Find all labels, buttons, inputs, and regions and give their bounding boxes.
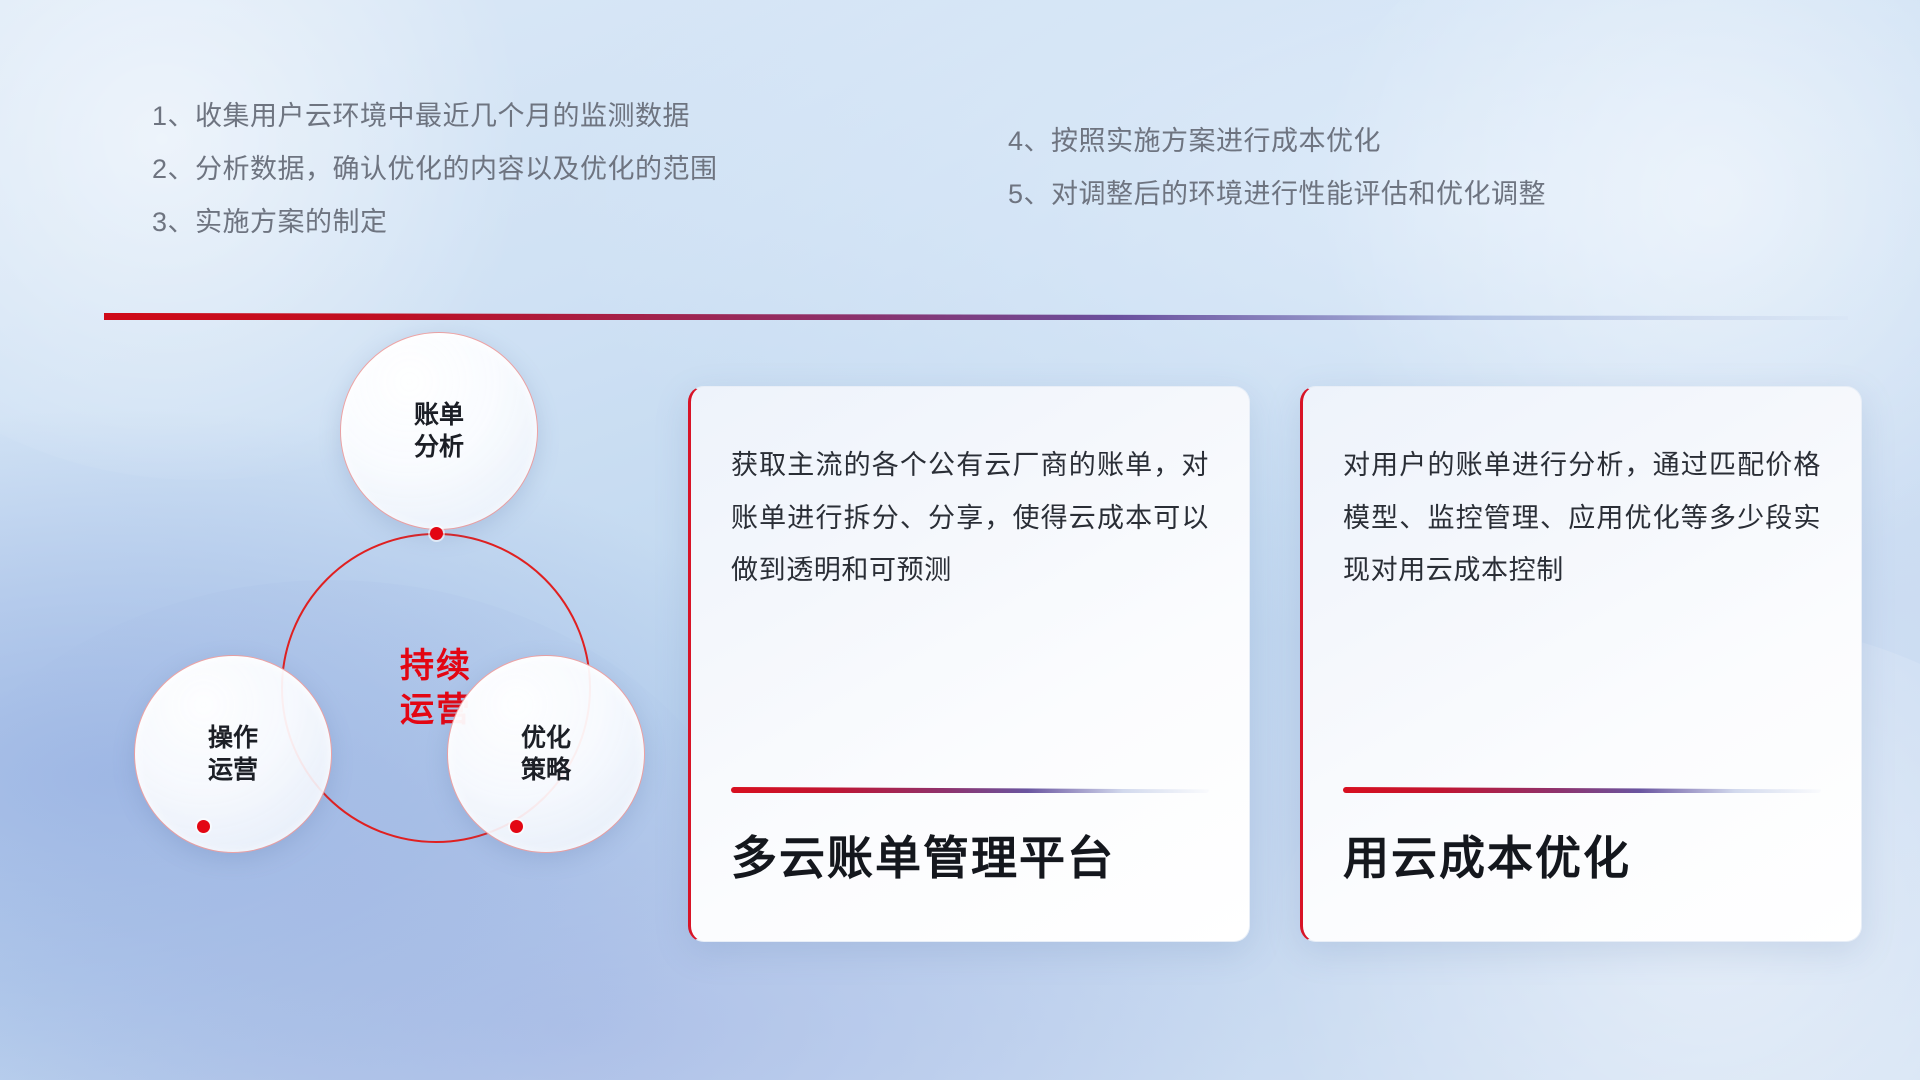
step-item-3: 3、实施方案的制定 (152, 209, 718, 236)
steps-left-column: 1、收集用户云环境中最近几个月的监测数据 2、分析数据，确认优化的内容以及优化的… (152, 103, 718, 236)
card-title: 用云成本优化 (1343, 793, 1821, 941)
slide-canvas: 1、收集用户云环境中最近几个月的监测数据 2、分析数据，确认优化的内容以及优化的… (0, 0, 1920, 1080)
card-divider-rule (1343, 787, 1821, 793)
steps-right-column: 4、按照实施方案进行成本优化 5、对调整后的环境进行性能评估和优化调整 (1008, 128, 1546, 208)
feature-card-multicloud-billing[interactable]: 获取主流的各个公有云厂商的账单，对账单进行拆分、分享，使得云成本可以做到透明和可… (688, 386, 1250, 942)
diagram-node-optimization-strategy[interactable]: 优化 策略 (447, 655, 645, 853)
feature-card-cost-optimization[interactable]: 对用户的账单进行分析，通过匹配价格模型、监控管理、应用优化等多少段实现对用云成本… (1300, 386, 1862, 942)
step-item-1: 1、收集用户云环境中最近几个月的监测数据 (152, 103, 718, 130)
diagram-node-bill-analysis[interactable]: 账单 分析 (340, 332, 538, 530)
connector-dot-right (510, 820, 523, 833)
center-label-line-1: 持续 (400, 644, 472, 688)
card-title: 多云账单管理平台 (731, 793, 1209, 941)
connector-dot-top (430, 527, 443, 540)
node-label-line-1: 操作 (208, 722, 258, 754)
card-body-text: 对用户的账单进行分析，通过匹配价格模型、监控管理、应用优化等多少段实现对用云成本… (1343, 439, 1821, 597)
section-divider-rule (104, 313, 1848, 320)
diagram-node-operation[interactable]: 操作 运营 (134, 655, 332, 853)
step-item-4: 4、按照实施方案进行成本优化 (1008, 128, 1546, 155)
connector-dot-left (197, 820, 210, 833)
node-label-line-2: 分析 (414, 431, 464, 463)
card-divider-rule (731, 787, 1209, 793)
node-label-line-1: 优化 (521, 722, 571, 754)
node-label-line-2: 策略 (521, 754, 571, 786)
node-label-line-2: 运营 (208, 754, 258, 786)
node-label-line-1: 账单 (414, 399, 464, 431)
step-item-2: 2、分析数据，确认优化的内容以及优化的范围 (152, 156, 718, 183)
card-body-text: 获取主流的各个公有云厂商的账单，对账单进行拆分、分享，使得云成本可以做到透明和可… (731, 439, 1209, 597)
step-item-5: 5、对调整后的环境进行性能评估和优化调整 (1008, 181, 1546, 208)
continuous-operation-diagram: 持续 运营 账单 分析 操作 运营 优化 策略 (95, 350, 640, 940)
